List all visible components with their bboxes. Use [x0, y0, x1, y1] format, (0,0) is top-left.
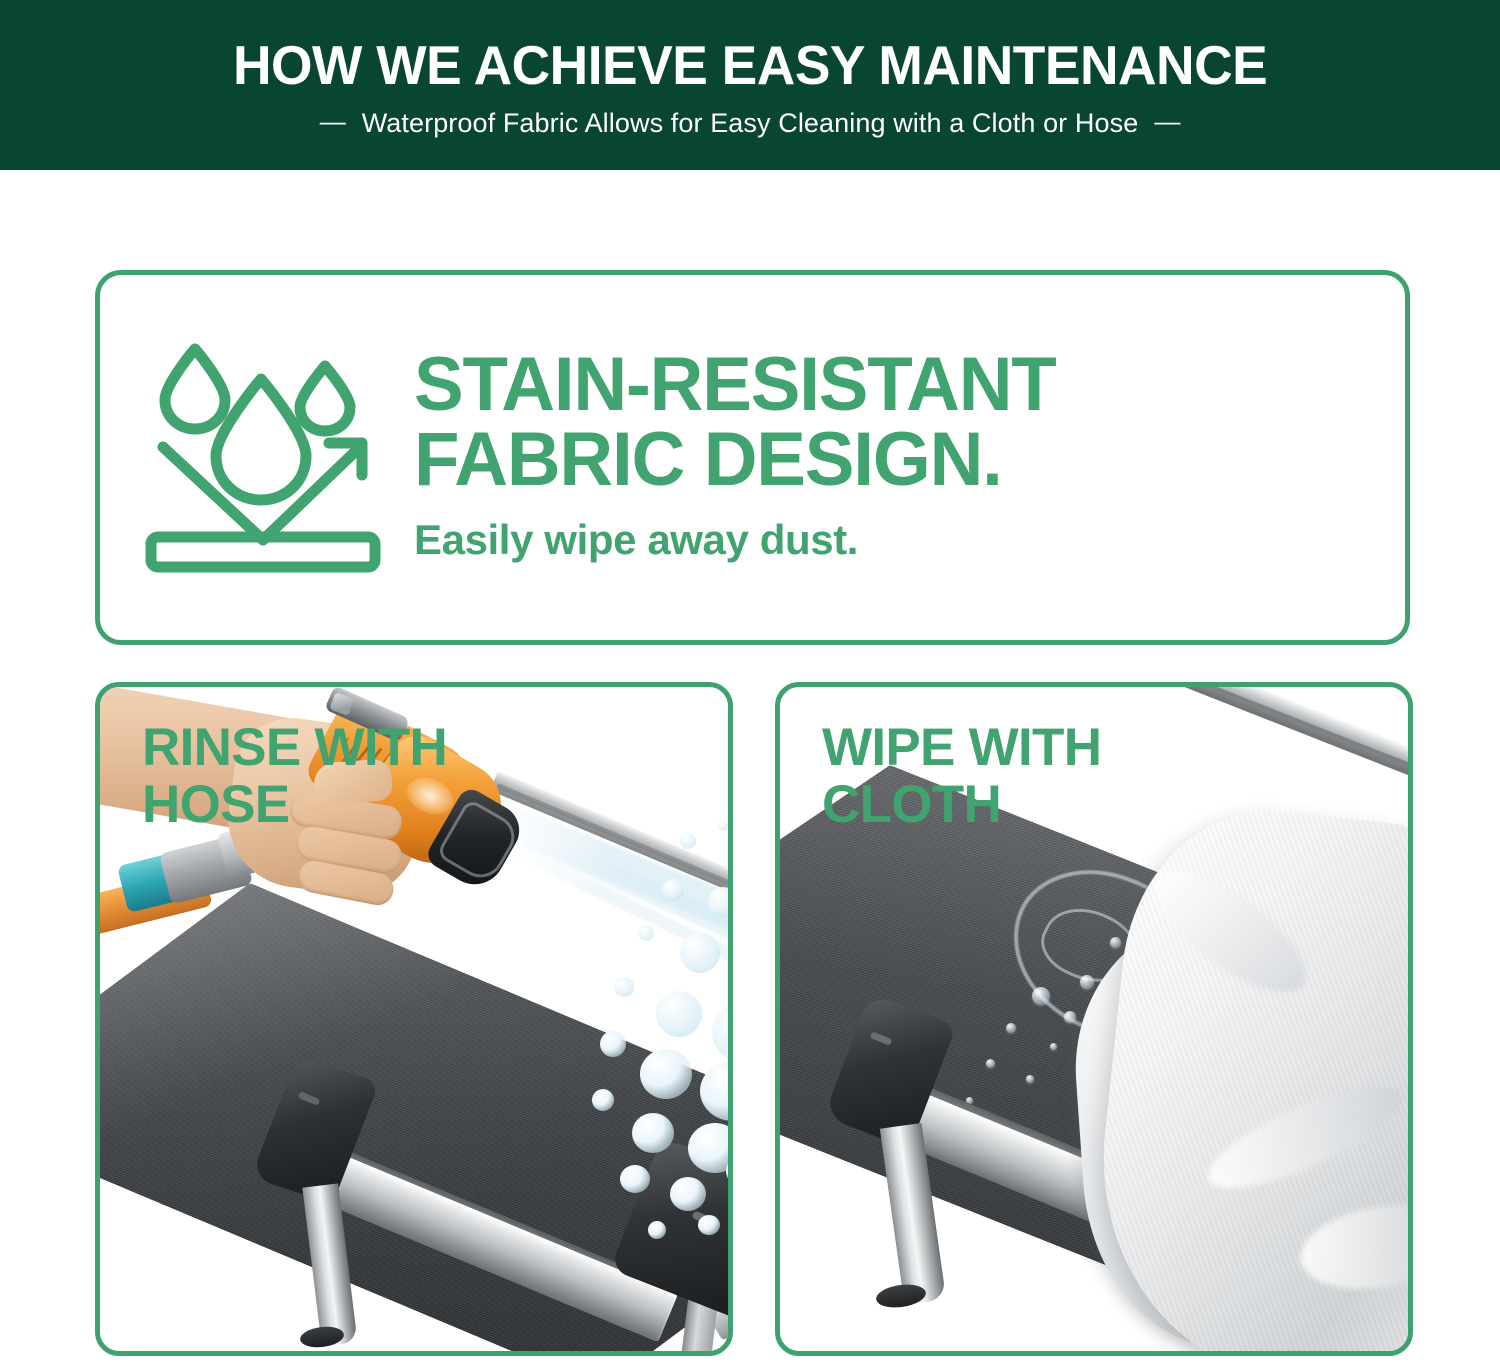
cot-leg-foot [875, 1282, 928, 1311]
water-droplet [986, 1059, 995, 1068]
stain-icon-container [100, 337, 400, 579]
stain-text-container: STAIN-RESISTANT FABRIC DESIGN. Easily wi… [400, 348, 1405, 567]
header-subtitle-row: — Waterproof Fabric Allows for Easy Clea… [320, 110, 1181, 137]
stain-heading-line-2: FABRIC DESIGN. [414, 423, 1385, 497]
rinse-with-hose-card: RINSE WITH HOSE [95, 682, 733, 1356]
water-repellent-fabric-icon [139, 337, 387, 579]
water-droplet [1110, 937, 1121, 948]
dash-left-decoration: — [320, 108, 346, 134]
cot-top-rail [1063, 687, 1408, 828]
stain-heading-line-1: STAIN-RESISTANT [414, 348, 1385, 422]
water-droplet [1064, 1011, 1076, 1023]
wipe-with-cloth-card: WIPE WITH CLOTH [775, 682, 1413, 1356]
water-droplet [1032, 987, 1050, 1005]
content-canvas: STAIN-RESISTANT FABRIC DESIGN. Easily wi… [0, 170, 1500, 1366]
water-droplet [1080, 975, 1094, 989]
water-droplet [1050, 1043, 1057, 1050]
stain-resistant-card: STAIN-RESISTANT FABRIC DESIGN. Easily wi… [95, 270, 1410, 645]
page-subtitle: Waterproof Fabric Allows for Easy Cleani… [362, 110, 1139, 137]
page-title: HOW WE ACHIEVE EASY MAINTENANCE [233, 38, 1267, 93]
dash-right-decoration: — [1154, 108, 1180, 134]
header-banner: HOW WE ACHIEVE EASY MAINTENANCE — Waterp… [0, 0, 1500, 170]
hose-rinsing-cot-photo [100, 687, 728, 1351]
water-droplet [1006, 1023, 1016, 1033]
cloth-wiping-cot-photo [780, 687, 1408, 1351]
cot-leg-front-foot [299, 1324, 345, 1349]
water-droplet [1026, 1075, 1034, 1083]
stain-subtext: Easily wipe away dust. [414, 519, 1405, 561]
thumb [313, 758, 394, 805]
